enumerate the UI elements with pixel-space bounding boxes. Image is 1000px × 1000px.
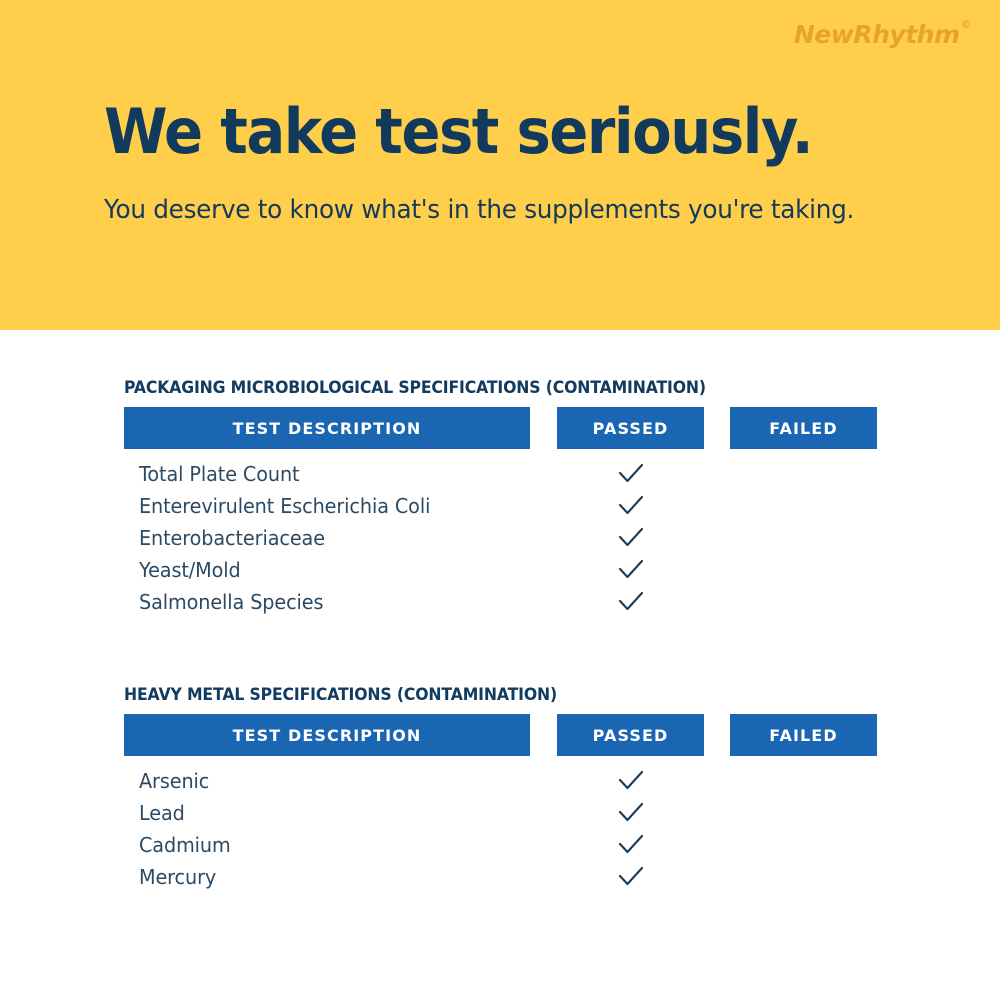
table-row: Mercury bbox=[0, 861, 1000, 893]
brand-logo[interactable]: NewRhythm© bbox=[794, 20, 970, 49]
check-icon bbox=[618, 866, 644, 888]
passed-cell bbox=[557, 490, 704, 522]
table-header-row: TEST DESCRIPTION PASSED FAILED bbox=[0, 714, 1000, 756]
passed-cell bbox=[557, 586, 704, 618]
check-icon bbox=[618, 802, 644, 824]
failed-cell bbox=[730, 586, 877, 618]
column-header-test-description[interactable]: TEST DESCRIPTION bbox=[124, 407, 530, 449]
failed-cell bbox=[730, 490, 877, 522]
test-name: Arsenic bbox=[139, 765, 209, 797]
passed-cell bbox=[557, 829, 704, 861]
failed-cell bbox=[730, 458, 877, 490]
test-name: Enterevirulent Escherichia Coli bbox=[139, 490, 430, 522]
section-title: HEAVY METAL SPECIFICATIONS (CONTAMINATIO… bbox=[124, 685, 557, 704]
column-header-test-description[interactable]: TEST DESCRIPTION bbox=[124, 714, 530, 756]
failed-cell bbox=[730, 797, 877, 829]
page-title: We take test seriously. bbox=[104, 96, 812, 168]
section-title: PACKAGING MICROBIOLOGICAL SPECIFICATIONS… bbox=[124, 378, 706, 397]
test-name: Enterobacteriaceae bbox=[139, 522, 325, 554]
passed-cell bbox=[557, 458, 704, 490]
table-body: Arsenic Lead bbox=[0, 765, 1000, 893]
check-icon bbox=[618, 559, 644, 581]
table-row: Salmonella Species bbox=[0, 586, 1000, 618]
failed-cell bbox=[730, 829, 877, 861]
table-row: Yeast/Mold bbox=[0, 554, 1000, 586]
passed-cell bbox=[557, 861, 704, 893]
column-header-passed[interactable]: PASSED bbox=[557, 407, 704, 449]
check-icon bbox=[618, 495, 644, 517]
check-icon bbox=[618, 527, 644, 549]
copyright-icon: © bbox=[961, 18, 972, 31]
test-name: Yeast/Mold bbox=[139, 554, 241, 586]
passed-cell bbox=[557, 522, 704, 554]
column-header-failed[interactable]: FAILED bbox=[730, 714, 877, 756]
table-row: Lead bbox=[0, 797, 1000, 829]
check-icon bbox=[618, 770, 644, 792]
column-header-passed[interactable]: PASSED bbox=[557, 714, 704, 756]
check-icon bbox=[618, 463, 644, 485]
passed-cell bbox=[557, 797, 704, 829]
passed-cell bbox=[557, 765, 704, 797]
table-row: Arsenic bbox=[0, 765, 1000, 797]
failed-cell bbox=[730, 522, 877, 554]
test-name: Total Plate Count bbox=[139, 458, 299, 490]
content-area: PACKAGING MICROBIOLOGICAL SPECIFICATIONS… bbox=[0, 330, 1000, 1000]
table-row: Cadmium bbox=[0, 829, 1000, 861]
table-header-row: TEST DESCRIPTION PASSED FAILED bbox=[0, 407, 1000, 449]
column-header-failed[interactable]: FAILED bbox=[730, 407, 877, 449]
hero-subheadline: You deserve to know what's in the supple… bbox=[104, 190, 855, 231]
failed-cell bbox=[730, 554, 877, 586]
table-row: Total Plate Count bbox=[0, 458, 1000, 490]
check-icon bbox=[618, 591, 644, 613]
test-name: Salmonella Species bbox=[139, 586, 323, 618]
failed-cell bbox=[730, 861, 877, 893]
brand-logo-text: NewRhythm bbox=[794, 20, 960, 49]
table-row: Enterobacteriaceae bbox=[0, 522, 1000, 554]
table-row: Enterevirulent Escherichia Coli bbox=[0, 490, 1000, 522]
test-name: Mercury bbox=[139, 861, 216, 893]
test-name: Cadmium bbox=[139, 829, 231, 861]
hero-banner: NewRhythm© We take test seriously. You d… bbox=[0, 0, 1000, 330]
failed-cell bbox=[730, 765, 877, 797]
table-body: Total Plate Count Enterevirulent Escheri… bbox=[0, 458, 1000, 618]
test-name: Lead bbox=[139, 797, 185, 829]
passed-cell bbox=[557, 554, 704, 586]
check-icon bbox=[618, 834, 644, 856]
